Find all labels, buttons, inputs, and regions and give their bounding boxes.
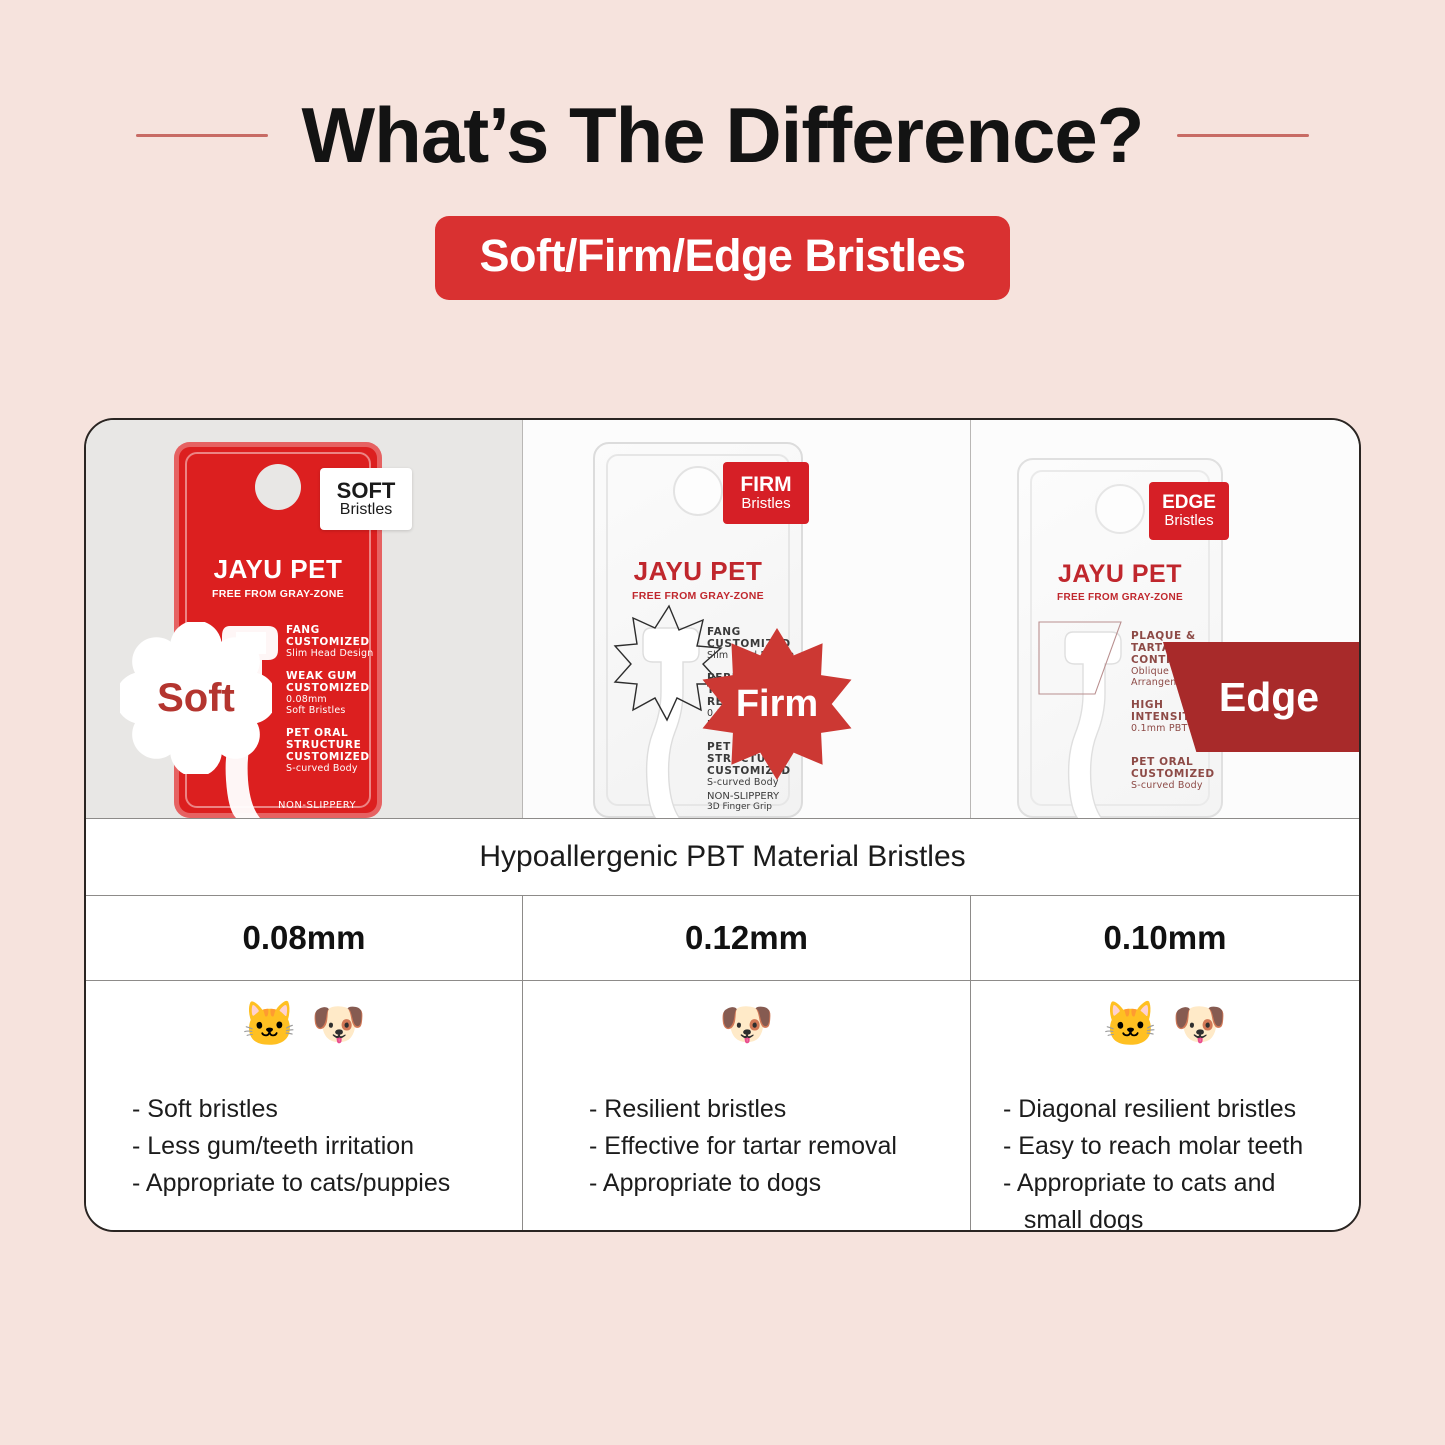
footer-note-soft: NON-SLIPPERY (278, 800, 356, 811)
variant-tag-edge: EDGE Bristles (1149, 482, 1229, 540)
list-item: - Easy to reach molar teeth (1003, 1128, 1333, 1165)
callout-item: FANG CUSTOMIZED Slim Head Design (286, 624, 382, 659)
pet-icons-firm: 🐶 (523, 1003, 970, 1061)
cat-icon: 🐱 (242, 1003, 297, 1061)
callout-line3: Slim Head Design (286, 648, 382, 659)
cat-icon: 🐱 (1103, 1003, 1158, 1061)
callout-item: PET ORAL CUSTOMIZED S-curved Body (1131, 756, 1221, 791)
badge-label-soft: Soft (157, 676, 235, 721)
list-item: - Diagonal resilient bristles (1003, 1091, 1333, 1128)
brand-name-soft: JAYU PET (174, 554, 382, 585)
brand-tagline-firm: FREE FROM GRAY-ZONE (595, 590, 801, 602)
footer-note-line2: 3D Finger Grip (707, 802, 779, 812)
bullet-list-firm: - Resilient bristles - Effective for tar… (523, 1091, 970, 1202)
variant-tag-name: EDGE (1162, 493, 1216, 513)
callout-line4: Soft Bristles (286, 705, 382, 716)
callout-item: PET ORAL STRUCTURE CUSTOMIZED S-curved B… (286, 727, 382, 774)
dog-icon: 🐶 (1172, 1003, 1227, 1061)
subtitle-row: Soft/Firm/Edge Bristles (0, 216, 1445, 300)
product-image-row: JAYU PET FREE FROM GRAY-ZONE FANG CUSTOM… (86, 420, 1359, 818)
hang-hole-firm (673, 466, 723, 516)
callout-line3: 0.08mm (286, 694, 382, 705)
list-item: - Effective for tartar removal (589, 1128, 944, 1165)
list-item: - Appropriate to cats and small dogs (1003, 1165, 1333, 1232)
callout-line3: S-curved Body (707, 777, 801, 788)
bullet-list-soft: - Soft bristles - Less gum/teeth irritat… (86, 1091, 522, 1202)
product-cell-edge: JAYU PET FREE FROM GRAY-ZONE PLAQUE & TA… (971, 420, 1359, 818)
details-cell-edge: 🐱 🐶 - Diagonal resilient bristles - Easy… (971, 981, 1359, 1232)
variant-tag-sub: Bristles (340, 502, 392, 519)
callout-line1: FANG (707, 626, 801, 638)
callout-line1: PET ORAL STRUCTURE (286, 727, 382, 751)
bullet-list-edge: - Diagonal resilient bristles - Easy to … (971, 1091, 1359, 1232)
hang-hole-edge (1095, 484, 1145, 534)
callout-line2: CUSTOMIZED (286, 636, 382, 648)
callout-line2: CUSTOMIZED (1131, 768, 1221, 780)
callout-line2: CUSTOMIZED (286, 682, 382, 694)
title-rule-left (136, 134, 268, 137)
callout-line2: CUSTOMIZED (286, 751, 382, 763)
dog-icon: 🐶 (719, 1003, 774, 1061)
hang-hole-soft (255, 464, 301, 510)
variant-tag-name: SOFT (337, 479, 396, 502)
callout-line1: FANG (286, 624, 382, 636)
callout-line1: WEAK GUM (286, 670, 382, 682)
product-cell-soft: JAYU PET FREE FROM GRAY-ZONE FANG CUSTOM… (86, 420, 523, 818)
callouts-soft: FANG CUSTOMIZED Slim Head Design WEAK GU… (286, 624, 382, 785)
list-item: - Appropriate to dogs (589, 1165, 944, 1202)
brand-tagline-soft: FREE FROM GRAY-ZONE (174, 588, 382, 600)
badge-edge: Edge (1163, 642, 1359, 752)
details-row: 🐱 🐶 - Soft bristles - Less gum/teeth irr… (86, 981, 1359, 1232)
footer-note-line1: NON-SLIPPERY (707, 791, 779, 802)
list-item: - Soft bristles (132, 1091, 496, 1128)
thickness-cell-edge: 0.10mm (971, 896, 1359, 980)
footer-note-firm: NON-SLIPPERY 3D Finger Grip (707, 791, 779, 812)
title-rule-right (1177, 134, 1309, 137)
pet-icons-soft: 🐱 🐶 (86, 1003, 522, 1061)
callout-line1: PET ORAL (1131, 756, 1221, 768)
badge-soft: Soft (120, 622, 272, 774)
dog-icon: 🐶 (311, 1003, 366, 1061)
thickness-row: 0.08mm 0.12mm 0.10mm (86, 896, 1359, 981)
list-item: - Appropriate to cats/puppies (132, 1165, 496, 1202)
list-item: - Less gum/teeth irritation (132, 1128, 496, 1165)
title-row: What’s The Difference? (0, 96, 1445, 174)
page-title: What’s The Difference? (302, 96, 1144, 174)
page-header: What’s The Difference? Soft/Firm/Edge Br… (0, 0, 1445, 300)
variant-tag-sub: Bristles (1164, 513, 1213, 529)
variant-tag-name: FIRM (740, 474, 791, 496)
product-cell-firm: JAYU PET FREE FROM GRAY-ZONE FANG CUSTOM… (523, 420, 971, 818)
badge-label-firm: Firm (736, 683, 818, 726)
material-row: Hypoallergenic PBT Material Bristles (86, 818, 1359, 896)
brand-name-firm: JAYU PET (595, 556, 801, 587)
details-cell-soft: 🐱 🐶 - Soft bristles - Less gum/teeth irr… (86, 981, 523, 1232)
thickness-cell-soft: 0.08mm (86, 896, 523, 980)
variant-tag-firm: FIRM Bristles (723, 462, 809, 524)
comparison-card: JAYU PET FREE FROM GRAY-ZONE FANG CUSTOM… (84, 418, 1361, 1232)
details-cell-firm: 🐶 - Resilient bristles - Effective for t… (523, 981, 971, 1232)
callout-line3: S-curved Body (286, 763, 382, 774)
variant-tag-soft: SOFT Bristles (320, 468, 412, 530)
callout-line3: S-curved Body (1131, 780, 1221, 791)
material-label: Hypoallergenic PBT Material Bristles (479, 840, 965, 874)
brand-name-edge: JAYU PET (1019, 560, 1221, 589)
variant-tag-sub: Bristles (741, 496, 790, 512)
brand-tagline-edge: FREE FROM GRAY-ZONE (1019, 592, 1221, 603)
pet-icons-edge: 🐱 🐶 (971, 1003, 1359, 1061)
callout-line2: CUSTOMIZED (707, 765, 801, 777)
thickness-cell-firm: 0.12mm (523, 896, 971, 980)
badge-label-edge: Edge (1219, 674, 1319, 721)
subtitle-badge: Soft/Firm/Edge Bristles (435, 216, 1009, 300)
list-item: - Resilient bristles (589, 1091, 944, 1128)
callout-item: WEAK GUM CUSTOMIZED 0.08mm Soft Bristles (286, 670, 382, 716)
